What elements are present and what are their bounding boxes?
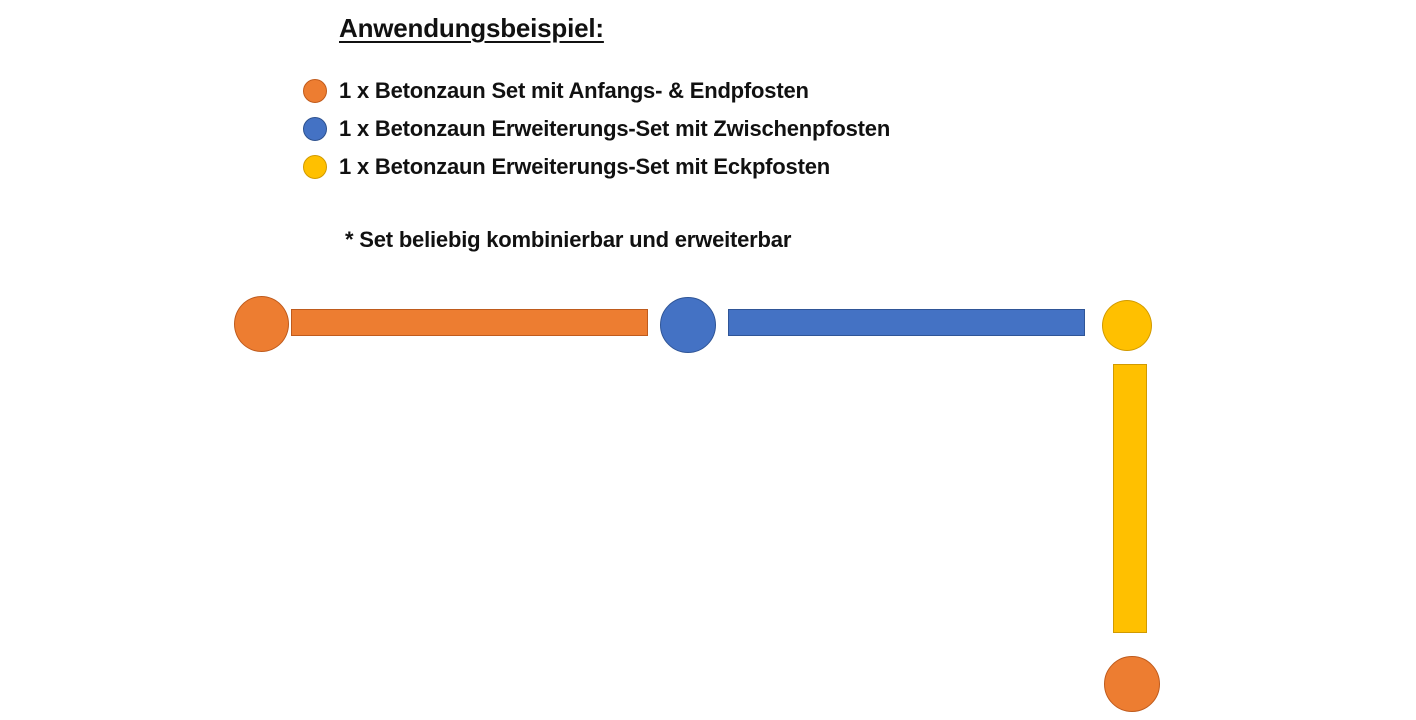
start-panel <box>291 309 648 336</box>
orange-circle-icon <box>303 79 327 103</box>
extension-panel <box>728 309 1085 336</box>
start-post <box>234 296 289 352</box>
legend: 1 x Betonzaun Set mit Anfangs- & Endpfos… <box>303 72 890 186</box>
yellow-circle-icon <box>303 155 327 179</box>
legend-item-label: 1 x Betonzaun Erweiterungs-Set mit Zwisc… <box>339 116 890 142</box>
footnote-text: * Set beliebig kombinierbar und erweiter… <box>345 227 791 253</box>
corner-panel <box>1113 364 1147 633</box>
legend-item-label: 1 x Betonzaun Set mit Anfangs- & Endpfos… <box>339 78 809 104</box>
legend-item-start-set: 1 x Betonzaun Set mit Anfangs- & Endpfos… <box>303 72 890 110</box>
end-post <box>1104 656 1160 712</box>
page-title: Anwendungsbeispiel: <box>339 13 604 44</box>
legend-item-extension-set: 1 x Betonzaun Erweiterungs-Set mit Zwisc… <box>303 110 890 148</box>
legend-item-label: 1 x Betonzaun Erweiterungs-Set mit Eckpf… <box>339 154 830 180</box>
blue-circle-icon <box>303 117 327 141</box>
diagram-canvas: Anwendungsbeispiel: 1 x Betonzaun Set mi… <box>0 0 1416 720</box>
legend-item-corner-set: 1 x Betonzaun Erweiterungs-Set mit Eckpf… <box>303 148 890 186</box>
corner-post <box>1102 300 1152 351</box>
middle-post <box>660 297 716 353</box>
